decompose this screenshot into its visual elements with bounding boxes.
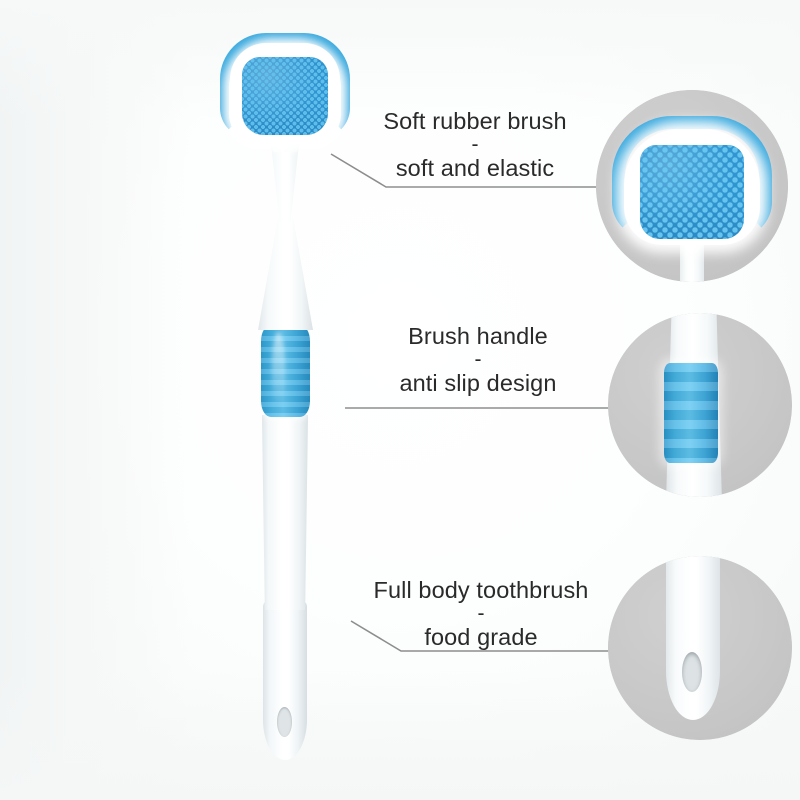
feature-subtitle: food grade <box>424 624 537 650</box>
inset-nub-texture <box>640 145 744 239</box>
callout-circle-brush-head <box>596 90 788 282</box>
feature-label-soft-rubber-brush: Soft rubber brush - soft and elastic <box>355 106 595 183</box>
feature-title: Brush handle <box>408 323 548 349</box>
inset-hang-hole <box>682 652 702 692</box>
inset-grip-anti-slip <box>664 363 718 463</box>
feature-separator: - <box>358 351 598 368</box>
feature-label-brush-handle: Brush handle - anti slip design <box>358 321 598 398</box>
feature-title: Soft rubber brush <box>383 108 566 134</box>
feature-label-full-body-toothbrush: Full body toothbrush - food grade <box>350 575 612 652</box>
callout-circle-tail <box>608 556 792 740</box>
feature-subtitle: anti slip design <box>399 370 556 396</box>
inset-head-nub-pad <box>640 145 744 239</box>
feature-separator: - <box>355 136 595 153</box>
inset-handle-tail <box>666 556 720 720</box>
callout-circle-grip <box>608 313 792 497</box>
feature-subtitle: soft and elastic <box>396 155 554 181</box>
feature-title: Full body toothbrush <box>374 577 589 603</box>
infographic-canvas: Soft rubber brush - soft and elastic Bru… <box>0 0 800 800</box>
feature-separator: - <box>350 605 612 622</box>
